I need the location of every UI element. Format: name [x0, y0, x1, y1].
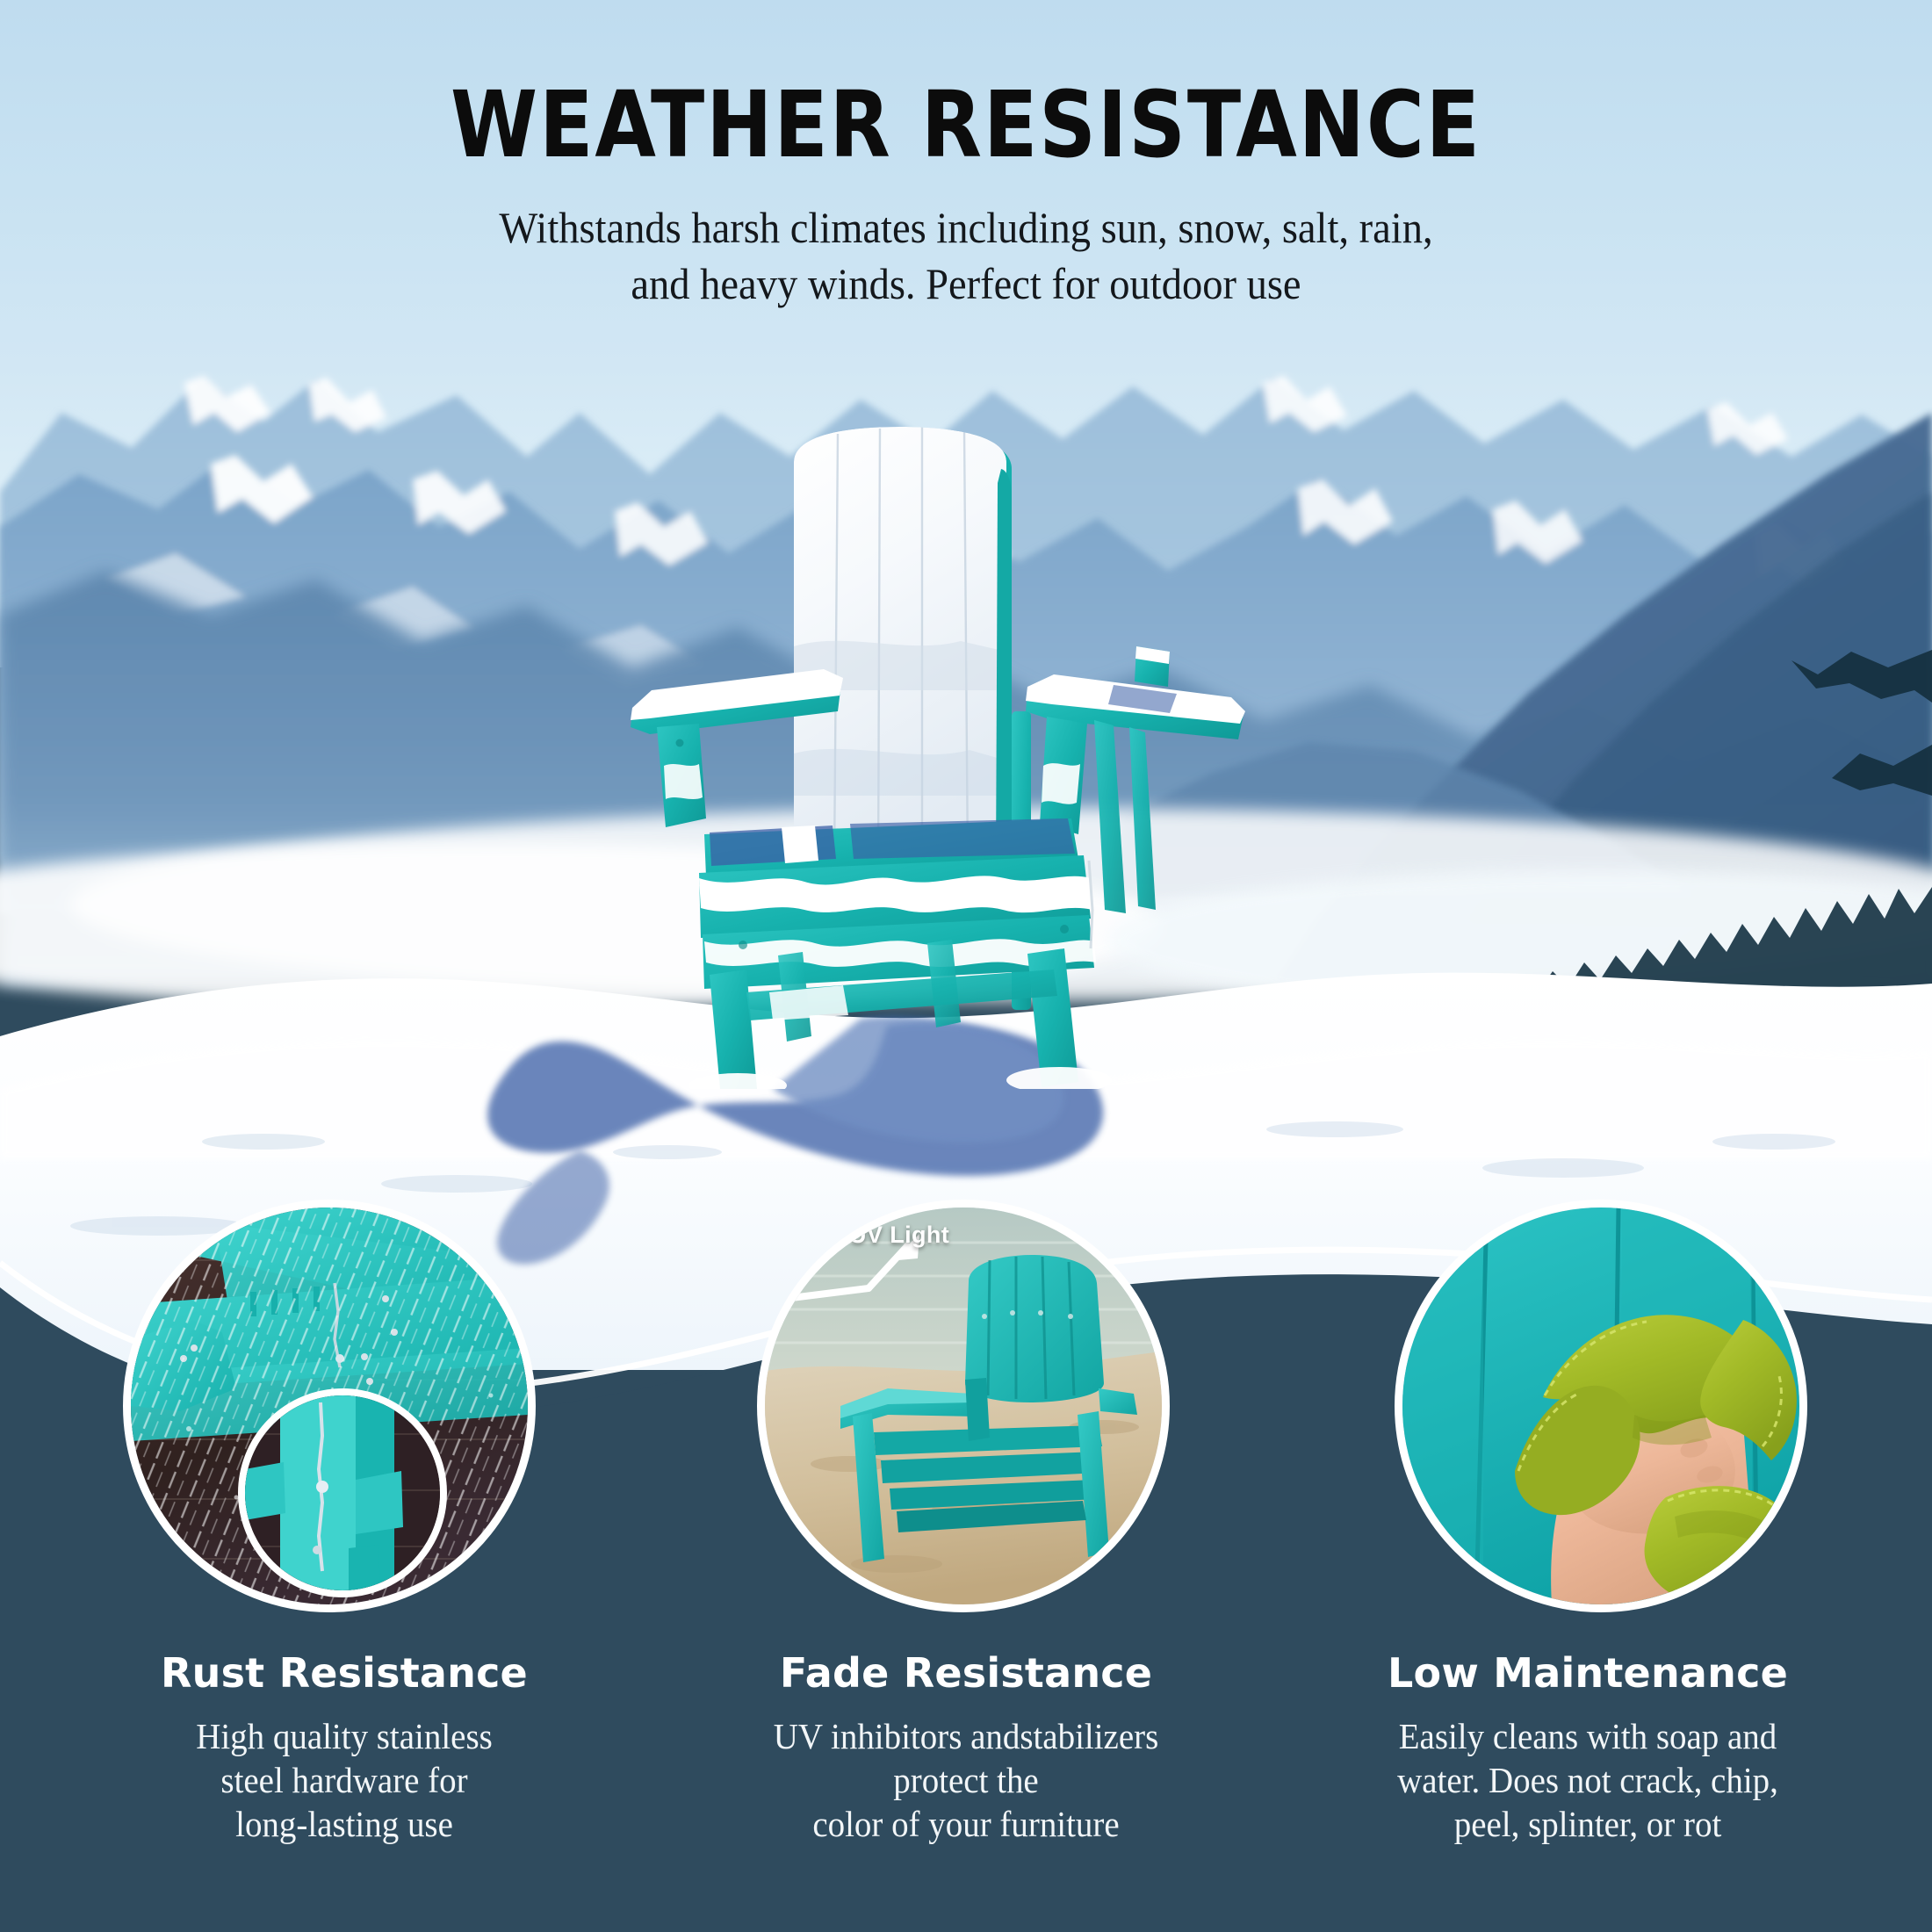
feature-image-low-maintenance[interactable] — [1395, 1200, 1807, 1612]
feature-low-maintenance: Low Maintenance Easily cleans with soap … — [1307, 1649, 1869, 1846]
feature-image-fade-resistance[interactable]: UV Light — [757, 1200, 1170, 1612]
desc-line-1: High quality stainless — [77, 1714, 611, 1758]
low-maintenance-photo — [1402, 1207, 1799, 1604]
feature-desc-low-maintenance: Easily cleans with soap and water. Does … — [1321, 1714, 1855, 1846]
chair-illustration — [615, 422, 1335, 1089]
infographic-canvas: WEATHER RESISTANCE Withstands harsh clim… — [0, 0, 1932, 1932]
feature-fade-resistance: Fade Resistance UV inhibitors andstabili… — [685, 1649, 1247, 1846]
feature-rust-resistance: Rust Resistance High quality stainless s… — [63, 1649, 625, 1846]
feature-desc-fade-resistance: UV inhibitors andstabilizers protect the… — [699, 1714, 1233, 1846]
page-subtitle: Withstands harsh climates including sun,… — [68, 199, 1864, 312]
desc-line-3: peel, splinter, or rot — [1321, 1802, 1855, 1846]
feature-image-rust-resistance[interactable] — [123, 1200, 536, 1612]
page-title: WEATHER RESISTANCE — [39, 77, 1893, 173]
chair-back-brace — [1094, 720, 1156, 913]
feature-title-low-maintenance: Low Maintenance — [1307, 1649, 1869, 1697]
desc-line-3: long-lasting use — [77, 1802, 611, 1846]
desc-line-2: water. Does not crack, chip, — [1321, 1758, 1855, 1802]
desc-line-2: steel hardware for — [77, 1758, 611, 1802]
desc-line-1: Easily cleans with soap and — [1321, 1714, 1855, 1758]
chain-closeup-inset — [238, 1388, 447, 1597]
feature-title-fade-resistance: Fade Resistance — [685, 1649, 1247, 1697]
desc-line-3: color of your furniture — [699, 1802, 1233, 1846]
uv-light-label: UV Light — [849, 1222, 949, 1249]
subtitle-line-2: and heavy winds. Perfect for outdoor use — [68, 256, 1864, 312]
chain-closeup-photo — [245, 1395, 440, 1590]
hero-adirondack-chair — [615, 422, 1335, 1089]
feature-title-rust-resistance: Rust Resistance — [63, 1649, 625, 1697]
header-block: WEATHER RESISTANCE Withstands harsh clim… — [0, 77, 1932, 312]
subtitle-line-1: Withstands harsh climates including sun,… — [68, 199, 1864, 256]
desc-line-2: protect the — [699, 1758, 1233, 1802]
feature-text-row: Rust Resistance High quality stainless s… — [0, 1649, 1932, 1846]
desc-line-1: UV inhibitors andstabilizers — [699, 1714, 1233, 1758]
fade-resistance-photo — [765, 1207, 1162, 1604]
feature-desc-rust-resistance: High quality stainless steel hardware fo… — [77, 1714, 611, 1846]
